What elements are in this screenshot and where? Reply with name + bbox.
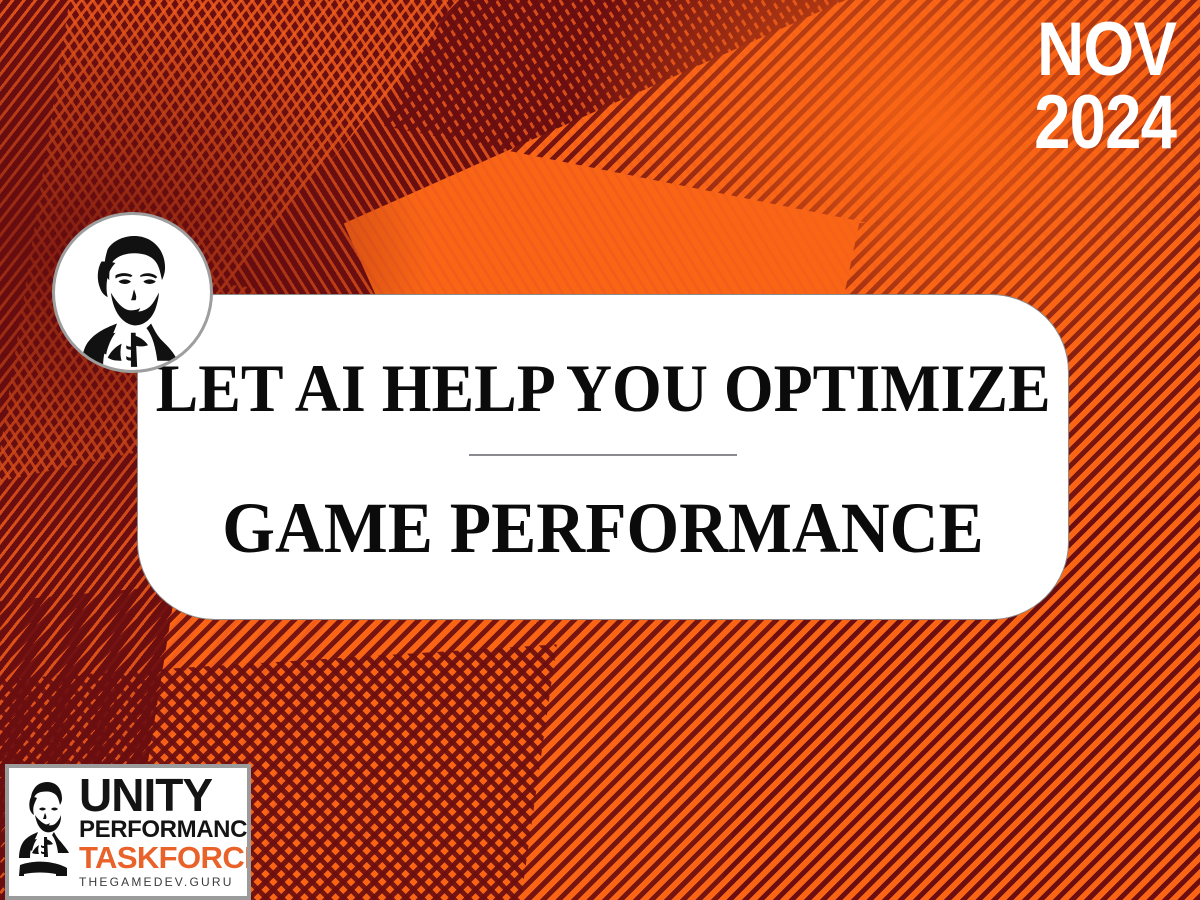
issue-date: NOV 2024: [1034, 14, 1176, 160]
logo-wordmark: UNITY PERFORMANCE TASKFORCE THEGAMEDEV.G…: [76, 774, 251, 890]
logo-url: THEGAMEDEV.GURU: [79, 875, 251, 889]
logo-word-performance: PERFORMANCE: [79, 817, 251, 842]
poster-canvas: NOV 2024: [0, 0, 1200, 900]
issue-year: 2024: [1034, 87, 1176, 160]
avatar: [52, 212, 213, 373]
headline-divider: [469, 454, 737, 456]
bearded-man-portrait-icon: [55, 215, 210, 370]
headline-card: LET AI HELP YOU OPTIMIZE GAME PERFORMANC…: [137, 294, 1069, 620]
headline-line-1: LET AI HELP YOU OPTIMIZE: [155, 354, 1050, 422]
headline-line-2: GAME PERFORMANCE: [222, 492, 983, 564]
logo-portrait-icon: [14, 777, 76, 887]
logo-word-taskforce: TASKFORCE: [79, 842, 251, 874]
logo-word-unity: UNITY: [79, 774, 251, 816]
issue-month: NOV: [1034, 14, 1176, 87]
brand-logo: UNITY PERFORMANCE TASKFORCE THEGAMEDEV.G…: [5, 764, 251, 900]
